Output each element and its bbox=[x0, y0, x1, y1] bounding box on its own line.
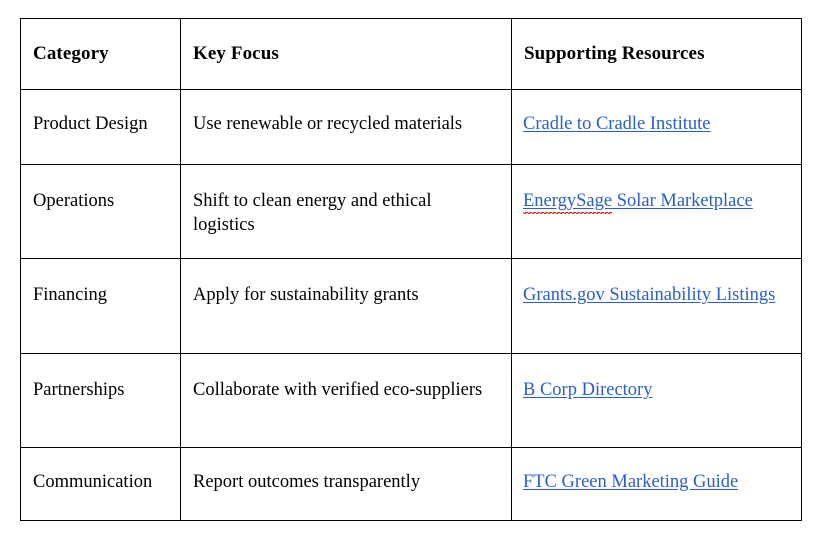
resource-link-energysage-solar-marketplace[interactable]: EnergySage Solar Marketplace bbox=[523, 191, 753, 214]
cell-key-focus: Use renewable or recycled materials bbox=[181, 90, 512, 165]
table-header-row: Category Key Focus Supporting Resources bbox=[21, 19, 802, 90]
table-row: Operations Shift to clean energy and eth… bbox=[21, 165, 802, 259]
category-text: Partnerships bbox=[21, 354, 180, 402]
cell-key-focus: Shift to clean energy and ethical logist… bbox=[181, 165, 512, 259]
category-text: Operations bbox=[21, 165, 180, 213]
cell-supporting-resource: B Corp Directory bbox=[512, 354, 802, 448]
column-header-supporting-resources: Supporting Resources bbox=[512, 19, 802, 90]
column-header-category: Category bbox=[21, 19, 181, 90]
table-row: Financing Apply for sustainability grant… bbox=[21, 259, 802, 354]
column-header-key-focus-label: Key Focus bbox=[181, 42, 511, 66]
category-text: Financing bbox=[21, 259, 180, 307]
column-header-key-focus: Key Focus bbox=[181, 19, 512, 90]
cell-supporting-resource: EnergySage Solar Marketplace bbox=[512, 165, 802, 259]
resource-link-ftc-green-marketing-guide[interactable]: FTC Green Marketing Guide bbox=[523, 472, 738, 492]
cell-key-focus: Collaborate with verified eco-suppliers bbox=[181, 354, 512, 448]
column-header-category-label: Category bbox=[21, 42, 180, 66]
cell-category: Product Design bbox=[21, 90, 181, 165]
resource-link-wrapper: Grants.gov Sustainability Listings bbox=[512, 259, 801, 307]
cell-key-focus: Report outcomes transparently bbox=[181, 448, 512, 521]
sustainability-strategy-table: Category Key Focus Supporting Resources … bbox=[20, 18, 802, 521]
resource-link-b-corp-directory[interactable]: B Corp Directory bbox=[523, 380, 652, 400]
key-focus-text: Apply for sustainability grants bbox=[181, 259, 511, 307]
table-row: Communication Report outcomes transparen… bbox=[21, 448, 802, 521]
column-header-supporting-resources-label: Supporting Resources bbox=[512, 42, 801, 66]
resource-link-wrapper: B Corp Directory bbox=[512, 354, 801, 402]
table-body: Product Design Use renewable or recycled… bbox=[21, 90, 802, 521]
cell-supporting-resource: Cradle to Cradle Institute bbox=[512, 90, 802, 165]
resource-link-wrapper: EnergySage Solar Marketplace bbox=[512, 165, 801, 213]
document-page: Category Key Focus Supporting Resources … bbox=[0, 0, 819, 536]
table-container: Category Key Focus Supporting Resources … bbox=[20, 18, 801, 521]
cell-category: Operations bbox=[21, 165, 181, 259]
resource-link-wrapper: Cradle to Cradle Institute bbox=[512, 90, 801, 136]
table-row: Partnerships Collaborate with verified e… bbox=[21, 354, 802, 448]
resource-link-grants-gov-sustainability-listings[interactable]: Grants.gov Sustainability Listings bbox=[523, 285, 775, 305]
key-focus-text: Collaborate with verified eco-suppliers bbox=[181, 354, 511, 402]
resource-link-cradle-to-cradle-institute[interactable]: Cradle to Cradle Institute bbox=[523, 114, 711, 134]
cell-key-focus: Apply for sustainability grants bbox=[181, 259, 512, 354]
category-text: Communication bbox=[21, 448, 180, 494]
table-row: Product Design Use renewable or recycled… bbox=[21, 90, 802, 165]
spellcheck-misspelled-word: EnergySage bbox=[523, 191, 612, 214]
key-focus-text: Report outcomes transparently bbox=[181, 448, 511, 494]
cell-supporting-resource: Grants.gov Sustainability Listings bbox=[512, 259, 802, 354]
key-focus-text: Use renewable or recycled materials bbox=[181, 90, 511, 136]
resource-link-wrapper: FTC Green Marketing Guide bbox=[512, 448, 801, 494]
cell-category: Financing bbox=[21, 259, 181, 354]
table-header: Category Key Focus Supporting Resources bbox=[21, 19, 802, 90]
cell-category: Partnerships bbox=[21, 354, 181, 448]
resource-link-remainder: Solar Marketplace bbox=[612, 191, 753, 211]
key-focus-text: Shift to clean energy and ethical logist… bbox=[181, 165, 511, 238]
cell-supporting-resource: FTC Green Marketing Guide bbox=[512, 448, 802, 521]
category-text: Product Design bbox=[21, 90, 180, 136]
cell-category: Communication bbox=[21, 448, 181, 521]
